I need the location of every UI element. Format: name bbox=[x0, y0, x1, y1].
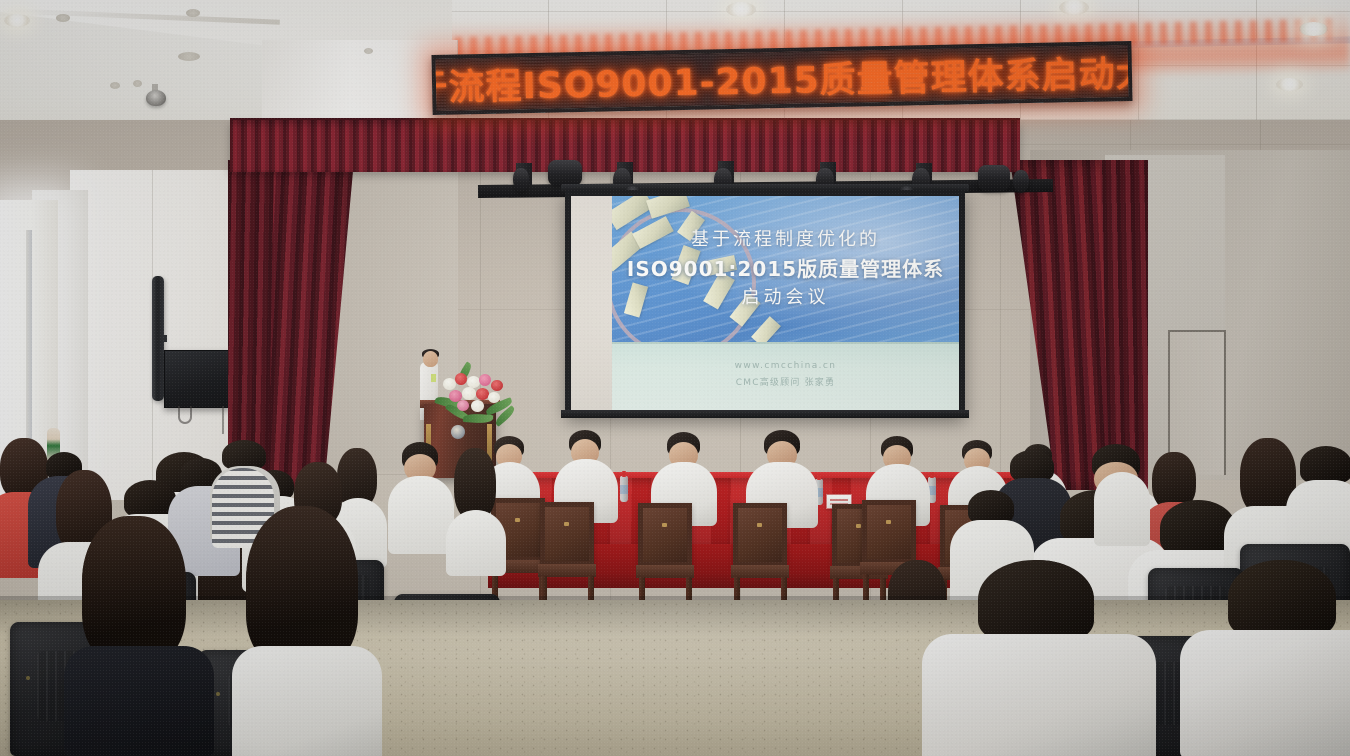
flower bbox=[491, 380, 503, 391]
podium-emblem bbox=[451, 425, 465, 439]
security-camera-icon bbox=[146, 90, 166, 106]
flower bbox=[455, 373, 467, 385]
downlight-icon bbox=[1059, 0, 1089, 15]
monitor-cable bbox=[222, 406, 224, 434]
ceiling-sprinkler-icon bbox=[364, 48, 373, 54]
flower bbox=[462, 387, 476, 400]
spotlight-icon bbox=[548, 160, 582, 186]
spotlight-icon bbox=[513, 168, 529, 192]
slide-footer-author: CMC高级顾问 张家勇 bbox=[612, 375, 959, 392]
presentation-slide: 基于流程制度优化的 ISO9001:2015版质量管理体系 启动会议 www.c… bbox=[612, 196, 959, 410]
speaker-bracket bbox=[162, 335, 167, 342]
screen-weight-bar bbox=[561, 410, 969, 418]
presenter-head bbox=[423, 351, 438, 367]
water-bottle bbox=[620, 476, 628, 502]
presenter-badge bbox=[431, 374, 436, 382]
spotlight-icon bbox=[978, 165, 1010, 191]
slide-line-1: 基于流程制度优化的 bbox=[612, 226, 959, 254]
slide-line-2: ISO9001:2015版质量管理体系 bbox=[612, 254, 959, 284]
downlight-icon bbox=[4, 14, 30, 27]
floor-shadow bbox=[0, 596, 1350, 636]
flower bbox=[479, 374, 491, 386]
downlight-icon bbox=[1299, 22, 1328, 36]
wall-monitor bbox=[164, 350, 230, 408]
ceiling-vent-icon bbox=[178, 52, 200, 61]
flower bbox=[471, 400, 484, 412]
slide-title-block: 基于流程制度优化的 ISO9001:2015版质量管理体系 启动会议 bbox=[612, 226, 959, 313]
conference-hall-photo: 基于流程ISO9001-2015质量管理体系启动大会 基于流程制度优化的 ISO… bbox=[0, 0, 1350, 756]
spotlight-icon bbox=[1013, 170, 1029, 193]
flower-arrangement bbox=[441, 372, 513, 422]
led-banner-text: 基于流程ISO9001-2015质量管理体系启动大会 bbox=[431, 44, 1132, 112]
ceiling-vent-icon bbox=[56, 14, 70, 22]
slide-footer-url: www.cmcchina.cn bbox=[612, 358, 959, 375]
slide-line-3: 启动会议 bbox=[612, 284, 959, 313]
ceiling-vent-icon bbox=[186, 9, 200, 17]
flower bbox=[443, 378, 456, 390]
ceiling-sprinkler-icon bbox=[110, 82, 120, 89]
downlight-icon bbox=[1276, 78, 1303, 91]
ceiling-sprinkler-icon bbox=[133, 80, 142, 87]
flower bbox=[476, 388, 489, 400]
flower bbox=[457, 400, 469, 411]
flower bbox=[488, 392, 500, 403]
slide-footer-text: www.cmcchina.cn CMC高级顾问 张家勇 bbox=[612, 358, 959, 392]
monitor-cable bbox=[178, 406, 192, 424]
downlight-icon bbox=[726, 2, 756, 17]
